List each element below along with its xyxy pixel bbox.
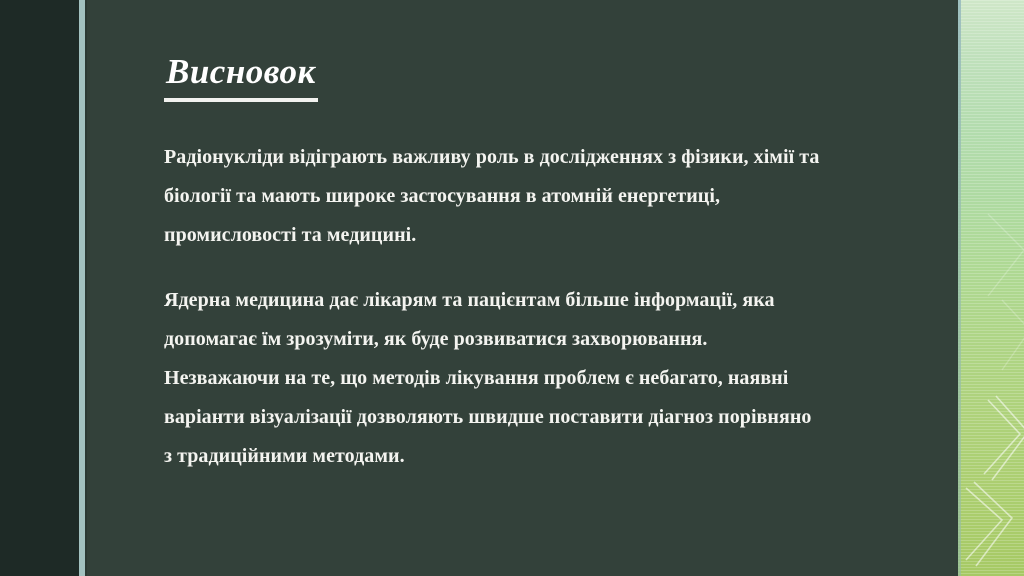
- right-decorative-band: [958, 0, 1024, 576]
- right-band-edge: [958, 0, 961, 576]
- right-band-texture: [958, 0, 1024, 576]
- slide-content: Висновок Радіонукліди відіграють важливу…: [164, 52, 824, 476]
- body-copy: Радіонукліди відіграють важливу роль в д…: [164, 138, 824, 476]
- left-accent-rule-shadow: [85, 0, 87, 576]
- left-decorative-band: [0, 0, 79, 576]
- page-title: Висновок: [164, 52, 318, 102]
- slide: Висновок Радіонукліди відіграють важливу…: [0, 0, 1024, 576]
- paragraph-1: Радіонукліди відіграють важливу роль в д…: [164, 138, 824, 255]
- chevron-decoration-icon: [958, 0, 1024, 576]
- paragraph-2: Ядерна медицина дає лікарям та пацієнтам…: [164, 281, 824, 476]
